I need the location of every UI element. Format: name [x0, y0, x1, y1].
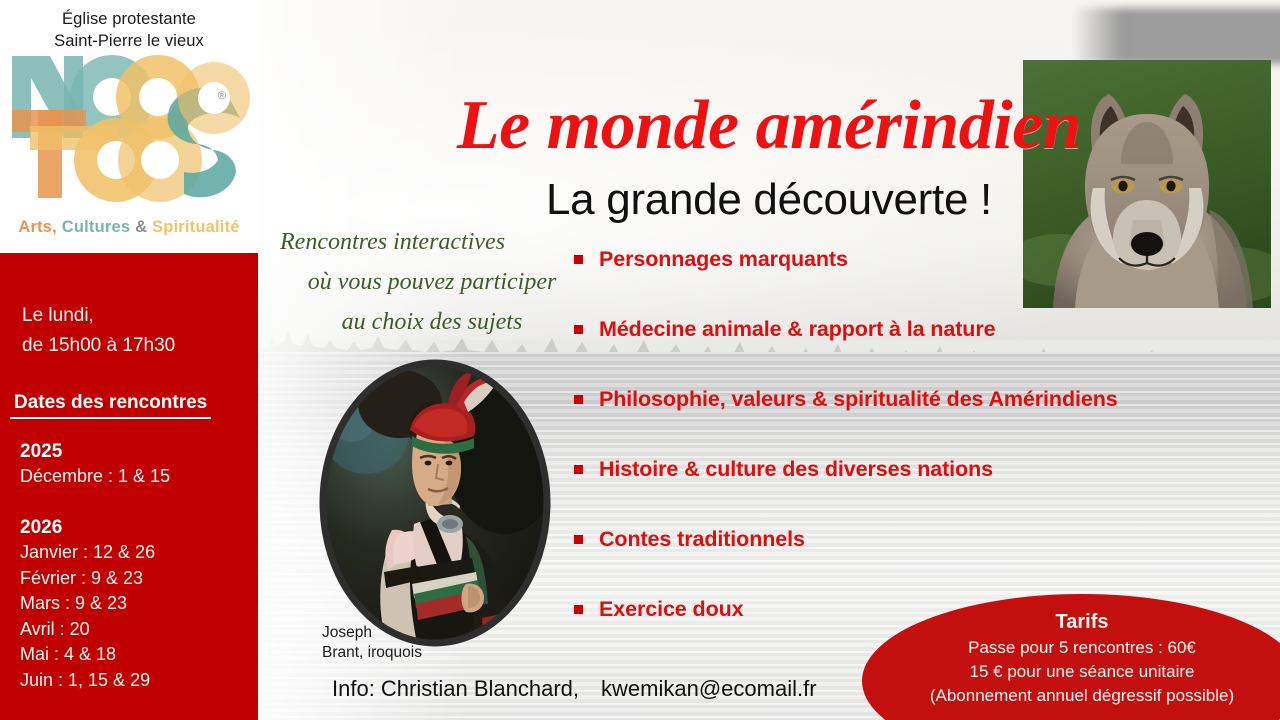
wolf-photo-blur-band [1073, 8, 1280, 64]
square-bullet-icon [574, 255, 583, 264]
tagline-arts: Arts, [18, 218, 57, 236]
topic-label: Médecine animale & rapport à la nature [599, 316, 995, 342]
year-block-2026: 2026 Janvier : 12 & 26 Février : 9 & 23 … [20, 515, 255, 693]
main-panel: Le monde amérindien La grande découverte… [258, 0, 1280, 720]
date-line: Mai : 4 & 18 [20, 642, 255, 668]
topic-item: Personnages marquants [574, 246, 1280, 316]
joseph-brant-portrait: Joseph Brant, iroquois [314, 358, 556, 648]
logo-tagline: Arts, Cultures & Spiritualité [0, 218, 258, 237]
dates-heading: Dates des rencontres [10, 392, 211, 419]
intro-line-3: au choix des sujets [276, 302, 588, 342]
organisation-name: Église protestante Saint-Pierre le vieux [0, 8, 258, 52]
topic-item: Médecine animale & rapport à la nature [574, 316, 1280, 386]
left-column: Église protestante Saint-Pierre le vieux [0, 0, 258, 720]
tarifs-content: Tarifs Passe pour 5 rencontres : 60€ 15 … [862, 608, 1280, 708]
schedule-block: Le lundi, de 15h00 à 17h30 [22, 301, 175, 361]
tagline-cultures: Cultures [62, 218, 131, 236]
square-bullet-icon [574, 535, 583, 544]
poster-root: Église protestante Saint-Pierre le vieux [0, 0, 1280, 720]
contact-info: Info: Christian Blanchard,kwemikan@ecoma… [332, 676, 817, 702]
tarifs-title: Tarifs [862, 608, 1280, 636]
date-line: Décembre : 1 & 15 [20, 464, 255, 490]
date-line: Janvier : 12 & 26 [20, 540, 255, 566]
registered-trademark-icon: ® [218, 90, 226, 102]
square-bullet-icon [574, 605, 583, 614]
portrait-caption-line-2: Brant, iroquois [322, 643, 422, 663]
topic-item: Histoire & culture des diverses nations [574, 456, 1280, 526]
page-subtitle: La grande découverte ! [258, 173, 1280, 227]
portrait-caption: Joseph Brant, iroquois [322, 623, 422, 663]
organisation-line-1: Église protestante [0, 8, 258, 30]
year-label: 2026 [20, 515, 255, 540]
red-sidebar-panel: Le lundi, de 15h00 à 17h30 Dates des ren… [0, 253, 258, 720]
date-line: Février : 9 & 23 [20, 566, 255, 592]
organisation-line-2: Saint-Pierre le vieux [0, 30, 258, 52]
tagline-spiritualite: Spiritualité [152, 218, 240, 236]
tarif-line: (Abonnement annuel dégressif possible) [862, 684, 1280, 708]
tarif-line: Passe pour 5 rencontres : 60€ [862, 636, 1280, 660]
nootoos-logo: ® [8, 52, 252, 212]
tarifs-callout: Tarifs Passe pour 5 rencontres : 60€ 15 … [862, 594, 1280, 720]
portrait-caption-line-1: Joseph [322, 623, 422, 643]
topic-item: Contes traditionnels [574, 526, 1280, 596]
schedule-day: Le lundi, [22, 301, 175, 331]
square-bullet-icon [574, 465, 583, 474]
square-bullet-icon [574, 325, 583, 334]
contact-email[interactable]: kwemikan@ecomail.fr [601, 676, 817, 701]
tarif-line: 15 € pour une séance unitaire [862, 660, 1280, 684]
schedule-hours: de 15h00 à 17h30 [22, 331, 175, 361]
square-bullet-icon [574, 395, 583, 404]
year-label: 2025 [20, 439, 255, 464]
tagline-ampersand: & [135, 218, 147, 236]
topic-item: Philosophie, valeurs & spiritualité des … [574, 386, 1280, 456]
topic-label: Histoire & culture des diverses nations [599, 456, 993, 482]
intro-line-2: où vous pouvez participer [276, 262, 588, 302]
intro-text: Rencontres interactives où vous pouvez p… [276, 222, 588, 342]
date-line: Juin : 1, 15 & 29 [20, 668, 255, 694]
topic-label: Philosophie, valeurs & spiritualité des … [599, 386, 1118, 412]
contact-label: Info: Christian Blanchard, [332, 676, 579, 701]
topic-label: Contes traditionnels [599, 526, 805, 552]
intro-line-1: Rencontres interactives [276, 222, 588, 262]
topic-label: Personnages marquants [599, 246, 848, 272]
page-title: Le monde amérindien [258, 87, 1280, 165]
topic-label: Exercice doux [599, 596, 744, 622]
year-block-2025: 2025 Décembre : 1 & 15 [20, 439, 255, 490]
date-line: Avril : 20 [20, 617, 255, 643]
date-line: Mars : 9 & 23 [20, 591, 255, 617]
